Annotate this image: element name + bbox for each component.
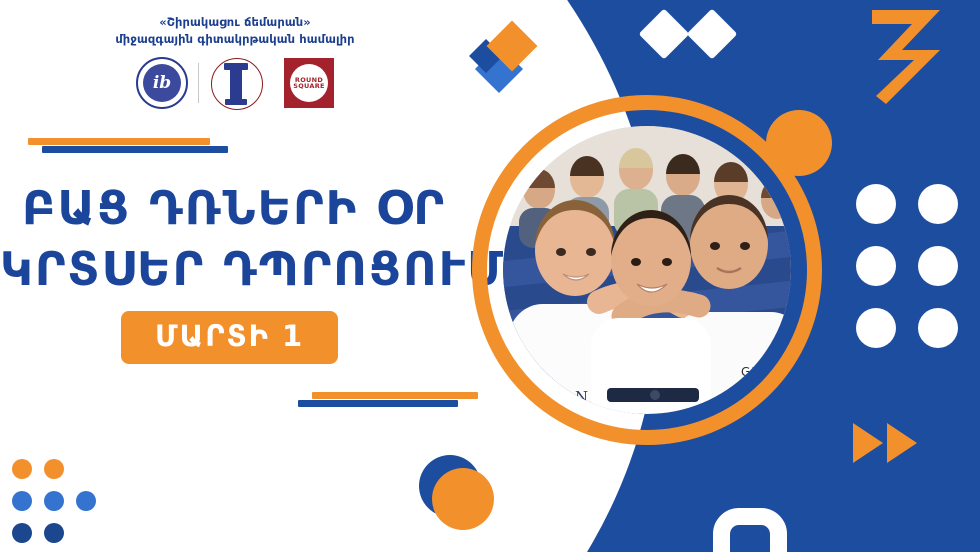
headline-line-2: ԿՐՏՍԵՐ ԴՊՐՈՑՈՒՄ xyxy=(0,239,468,300)
poster-canvas: «Շիրակացու ճեմարան» միջազգային գիտակրթակ… xyxy=(0,0,980,552)
mini-dot xyxy=(44,491,64,511)
school-name-line2: միջազգային գիտակրթական համալիր xyxy=(70,31,400,48)
dot xyxy=(856,308,896,348)
date-badge: ՄԱՐՏԻ 1 xyxy=(121,311,338,364)
header-block: «Շիրակացու ճեմարան» միջազգային գիտակրթակ… xyxy=(0,14,470,109)
logo-row: ib ROUND SQUARE xyxy=(0,57,470,109)
headline-line-1: ԲԱՑ ԴՌՆԵՐԻ ՕՐ xyxy=(0,178,468,239)
bar-orange xyxy=(312,392,478,399)
decor-circle-orange xyxy=(432,468,494,530)
fast-forward-icon xyxy=(853,423,917,463)
dot xyxy=(918,184,958,224)
school-name: «Շիրակացու ճեմարան» միջազգային գիտակրթակ… xyxy=(70,14,400,47)
mini-dot xyxy=(76,459,96,479)
white-dot-grid xyxy=(856,184,980,348)
mini-dot xyxy=(12,491,32,511)
photo-frame: N GIVENC xyxy=(487,110,807,430)
mini-dot xyxy=(12,459,32,479)
round-square-logo: ROUND SQUARE xyxy=(284,58,334,108)
decor-bar-bottom xyxy=(298,392,478,410)
bar-orange xyxy=(28,138,210,145)
ib-world-school-logo: ib xyxy=(136,57,188,109)
dot xyxy=(856,184,896,224)
triangle-icon xyxy=(853,423,883,463)
dot xyxy=(918,308,958,348)
logo-divider xyxy=(273,63,274,103)
mini-dot-grid xyxy=(12,459,96,543)
armenian-column-accreditation-logo xyxy=(209,57,263,109)
triangle-icon xyxy=(887,423,917,463)
headline-block: ԲԱՑ ԴՌՆԵՐԻ ՕՐ ԿՐՏՍԵՐ ԴՊՐՈՑՈՒՄ xyxy=(0,178,468,299)
photo-image: N GIVENC xyxy=(503,126,791,414)
mini-dot xyxy=(76,491,96,511)
mini-dot xyxy=(44,523,64,543)
dot xyxy=(856,246,896,286)
photo-illustration: N GIVENC xyxy=(503,126,791,414)
mini-dot xyxy=(12,523,32,543)
bar-navy xyxy=(298,400,458,407)
decor-bar-top xyxy=(28,138,228,156)
mini-dot xyxy=(76,523,96,543)
rounded-square-ring-decor xyxy=(713,508,787,552)
school-name-line1: «Շիրակացու ճեմարան» xyxy=(70,14,400,31)
bar-navy xyxy=(42,146,228,153)
logo-divider xyxy=(198,63,199,103)
ib-logo-text: ib xyxy=(153,75,171,92)
decor-diamond-2 xyxy=(687,9,738,60)
dot xyxy=(918,246,958,286)
zigzag-icon xyxy=(862,4,948,110)
decor-diamond-1 xyxy=(639,9,690,60)
mini-dot xyxy=(44,459,64,479)
round-square-line2: SQUARE xyxy=(293,83,325,90)
